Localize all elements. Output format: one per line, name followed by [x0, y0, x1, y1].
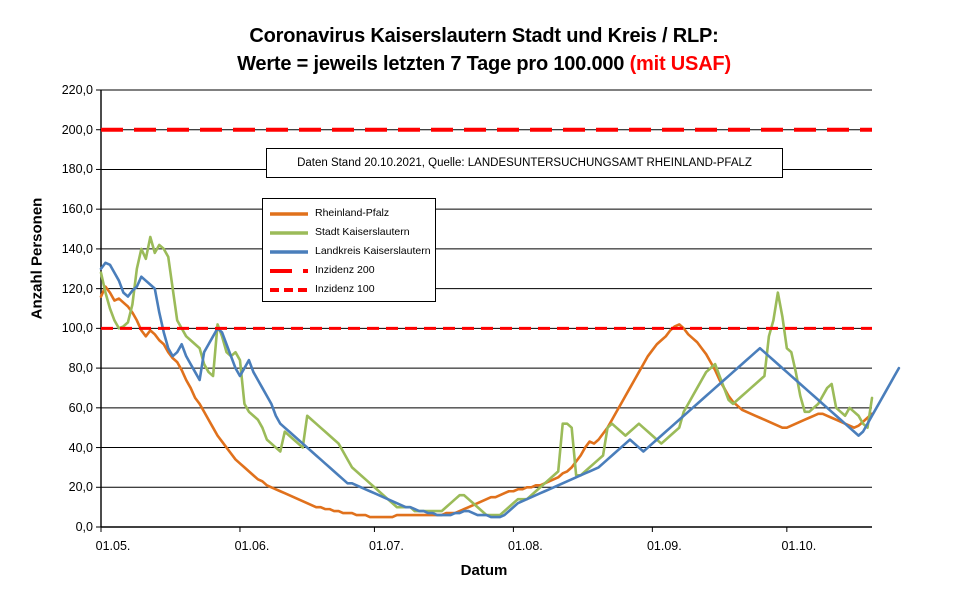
legend-swatch-landkreis-kaiserslautern — [269, 245, 309, 257]
legend-swatch-rheinland-pfalz — [269, 207, 309, 219]
plot-area — [0, 0, 968, 604]
legend-swatch-stadt-kaiserslautern — [269, 226, 309, 238]
legend-swatch-inzidenz-200 — [269, 264, 309, 276]
legend-item-inzidenz-100: Inzidenz 100 — [269, 279, 429, 298]
legend-item-landkreis-kaiserslautern: Landkreis Kaiserslautern — [269, 241, 429, 260]
legend-label-rheinland-pfalz: Rheinland-Pfalz — [315, 207, 389, 219]
source-note-box: Daten Stand 20.10.2021, Quelle: LANDESUN… — [266, 148, 783, 178]
legend-item-inzidenz-200: Inzidenz 200 — [269, 260, 429, 279]
legend-label-landkreis-kaiserslautern: Landkreis Kaiserslautern — [315, 245, 431, 257]
source-note-text: Daten Stand 20.10.2021, Quelle: LANDESUN… — [297, 157, 752, 169]
legend-item-stadt-kaiserslautern: Stadt Kaiserslautern — [269, 222, 429, 241]
chart-container: Coronavirus Kaiserslautern Stadt und Kre… — [0, 0, 968, 604]
legend-swatch-inzidenz-100 — [269, 283, 309, 295]
legend-label-inzidenz-200: Inzidenz 200 — [315, 264, 375, 276]
chart-legend: Rheinland-Pfalz Stadt Kaiserslautern Lan… — [262, 198, 436, 302]
legend-label-stadt-kaiserslautern: Stadt Kaiserslautern — [315, 226, 410, 238]
legend-item-rheinland-pfalz: Rheinland-Pfalz — [269, 203, 429, 222]
legend-label-inzidenz-100: Inzidenz 100 — [315, 283, 375, 295]
